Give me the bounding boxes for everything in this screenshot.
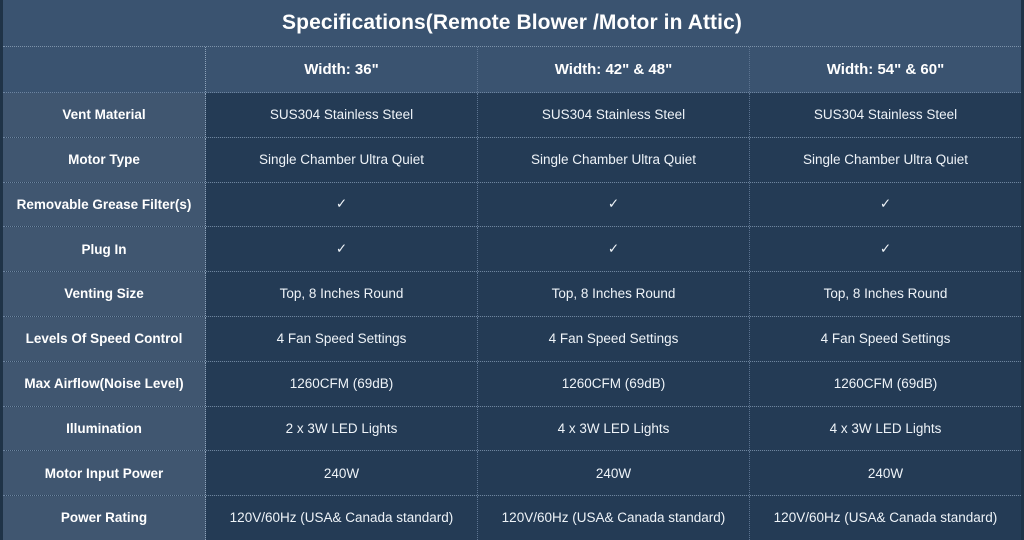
row-label-venting-size: Venting Size [3,272,206,316]
checkmark-icon: ✓ [478,227,750,271]
cell-illumination-col1: 2 x 3W LED Lights [206,407,478,451]
cell-power-rating-col3: 120V/60Hz (USA& Canada standard) [750,496,1021,540]
table-corner-cell [3,47,206,92]
cell-motor-type-col2: Single Chamber Ultra Quiet [478,138,750,182]
cell-speed-control-col3: 4 Fan Speed Settings [750,317,1021,361]
cell-motor-input-power-col3: 240W [750,451,1021,495]
cell-vent-material-col2: SUS304 Stainless Steel [478,93,750,137]
table-row: Removable Grease Filter(s) ✓ ✓ ✓ [3,183,1021,228]
cell-max-airflow-col3: 1260CFM (69dB) [750,362,1021,406]
cell-venting-size-col2: Top, 8 Inches Round [478,272,750,316]
specification-sheet: Specifications(Remote Blower /Motor in A… [0,0,1024,540]
row-label-plug-in: Plug In [3,227,206,271]
cell-motor-type-col1: Single Chamber Ultra Quiet [206,138,478,182]
table-row: Plug In ✓ ✓ ✓ [3,227,1021,272]
cell-power-rating-col1: 120V/60Hz (USA& Canada standard) [206,496,478,540]
row-label-removable-grease-filters: Removable Grease Filter(s) [3,183,206,227]
cell-speed-control-col2: 4 Fan Speed Settings [478,317,750,361]
specifications-table: Width: 36" Width: 42" & 48" Width: 54" &… [3,47,1021,540]
cell-power-rating-col2: 120V/60Hz (USA& Canada standard) [478,496,750,540]
checkmark-icon: ✓ [206,227,478,271]
cell-vent-material-col1: SUS304 Stainless Steel [206,93,478,137]
cell-motor-type-col3: Single Chamber Ultra Quiet [750,138,1021,182]
row-label-max-airflow: Max Airflow(Noise Level) [3,362,206,406]
cell-venting-size-col1: Top, 8 Inches Round [206,272,478,316]
row-label-power-rating: Power Rating [3,496,206,540]
row-label-vent-material: Vent Material [3,93,206,137]
table-row: Power Rating 120V/60Hz (USA& Canada stan… [3,496,1021,540]
cell-vent-material-col3: SUS304 Stainless Steel [750,93,1021,137]
table-row: Venting Size Top, 8 Inches Round Top, 8 … [3,272,1021,317]
cell-motor-input-power-col2: 240W [478,451,750,495]
checkmark-icon: ✓ [750,183,1021,227]
cell-speed-control-col1: 4 Fan Speed Settings [206,317,478,361]
page-title: Specifications(Remote Blower /Motor in A… [282,11,742,35]
checkmark-icon: ✓ [478,183,750,227]
table-row: Levels Of Speed Control 4 Fan Speed Sett… [3,317,1021,362]
table-row: Max Airflow(Noise Level) 1260CFM (69dB) … [3,362,1021,407]
column-header-width-36: Width: 36" [206,47,478,92]
cell-max-airflow-col2: 1260CFM (69dB) [478,362,750,406]
column-header-width-42-48: Width: 42" & 48" [478,47,750,92]
column-header-width-54-60: Width: 54" & 60" [750,47,1021,92]
sheet-title-bar: Specifications(Remote Blower /Motor in A… [3,0,1021,47]
cell-illumination-col2: 4 x 3W LED Lights [478,407,750,451]
table-row: Illumination 2 x 3W LED Lights 4 x 3W LE… [3,407,1021,452]
row-label-motor-input-power: Motor Input Power [3,451,206,495]
table-row: Motor Input Power 240W 240W 240W [3,451,1021,496]
cell-venting-size-col3: Top, 8 Inches Round [750,272,1021,316]
table-row: Vent Material SUS304 Stainless Steel SUS… [3,93,1021,138]
row-label-levels-of-speed-control: Levels Of Speed Control [3,317,206,361]
table-header-row: Width: 36" Width: 42" & 48" Width: 54" &… [3,47,1021,93]
cell-illumination-col3: 4 x 3W LED Lights [750,407,1021,451]
cell-motor-input-power-col1: 240W [206,451,478,495]
cell-max-airflow-col1: 1260CFM (69dB) [206,362,478,406]
row-label-motor-type: Motor Type [3,138,206,182]
table-row: Motor Type Single Chamber Ultra Quiet Si… [3,138,1021,183]
row-label-illumination: Illumination [3,407,206,451]
checkmark-icon: ✓ [750,227,1021,271]
checkmark-icon: ✓ [206,183,478,227]
